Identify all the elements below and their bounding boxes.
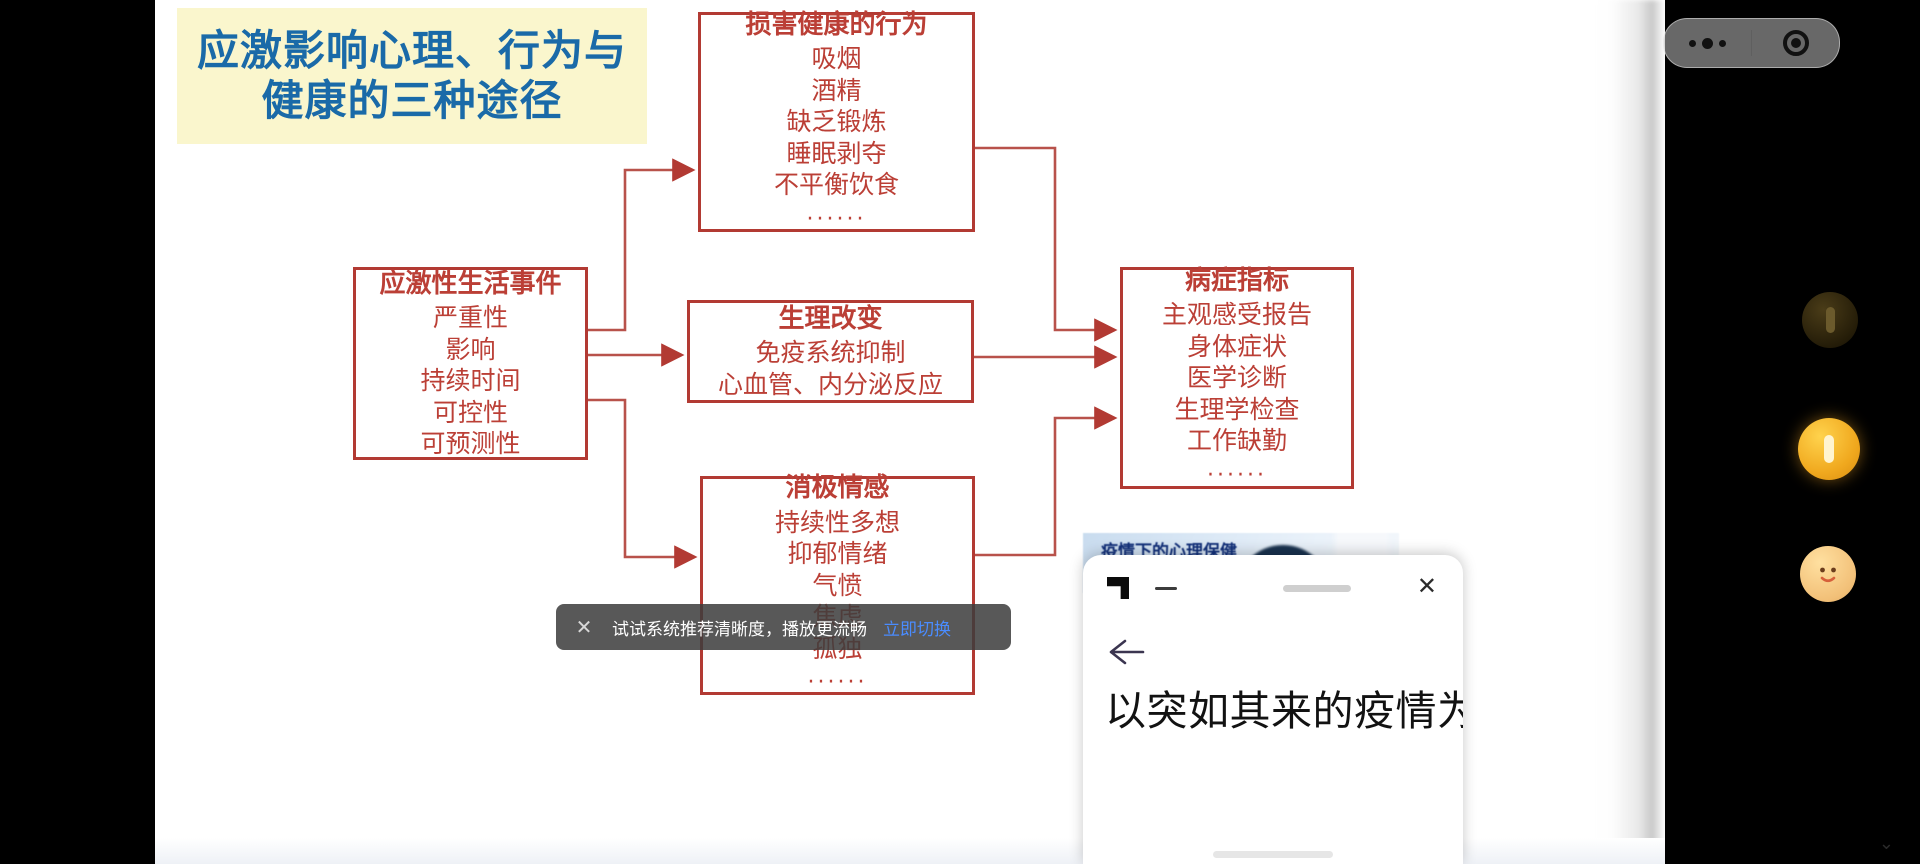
app-logo-icon: [1107, 577, 1129, 599]
node-line: 不平衡饮食: [774, 169, 899, 201]
node-title: 应激性生活事件: [379, 268, 561, 301]
toast-message: 试试系统推荐清晰度，播放更流畅: [612, 615, 867, 640]
node-line: 生理学检查: [1174, 394, 1299, 426]
node-line: 酒精: [811, 75, 861, 107]
node-stressful-life-events: 应激性生活事件 严重性 影响 持续时间 可控性 可预测性: [353, 267, 588, 460]
node-line: 持续时间: [420, 365, 520, 397]
node-line: 主观感受报告: [1162, 299, 1312, 331]
video-stage[interactable]: 应激影响心理、行为与 健康的三种途径: [0, 0, 1920, 864]
node-illness-indicators: 病症指标 主观感受报告 身体症状 医学诊断 生理学检查 工作缺勤 ······: [1120, 267, 1354, 489]
paper-right-edge: [1595, 0, 1665, 864]
emoji-button[interactable]: [1800, 546, 1856, 602]
letterbox-left: [0, 0, 155, 864]
more-menu-button[interactable]: [1664, 38, 1751, 49]
smiley-icon: [1811, 557, 1845, 591]
node-line: 缺乏锻炼: [786, 106, 886, 138]
node-title: 损害健康的行为: [745, 9, 927, 42]
more-icon: [1689, 38, 1726, 49]
node-line: 可预测性: [420, 428, 520, 460]
node-line: 严重性: [433, 302, 508, 334]
node-title: 生理改变: [778, 303, 882, 336]
coin-icon: [1826, 307, 1835, 333]
node-line: 吸烟: [811, 43, 861, 75]
node-line: 免疫系统抑制: [755, 337, 905, 369]
gold-coin-icon: [1824, 435, 1834, 463]
node-ellipsis: ······: [807, 205, 867, 236]
node-title: 病症指标: [1185, 265, 1289, 298]
close-miniprogram-button[interactable]: [1752, 30, 1839, 56]
back-arrow-icon[interactable]: [1105, 635, 1147, 669]
node-health-damaging-behavior: 损害健康的行为 吸烟 酒精 缺乏锻炼 睡眠剥夺 不平衡饮食 ······: [698, 12, 975, 232]
node-line: 持续性多想: [775, 507, 900, 539]
drag-handle[interactable]: [1283, 585, 1351, 592]
home-indicator: [1213, 851, 1333, 858]
floating-window-text: 以突如其来的疫情为引: [1105, 687, 1449, 736]
close-icon[interactable]: ✕: [556, 615, 612, 639]
node-line: 心血管、内分泌反应: [718, 369, 943, 401]
quality-toast[interactable]: ✕ 试试系统推荐清晰度，播放更流畅 立即切换: [556, 604, 1011, 650]
node-line: 医学诊断: [1187, 362, 1287, 394]
floating-window[interactable]: ✕ 以突如其来的疫情为引: [1083, 555, 1463, 864]
chevron-down-icon: ⌄: [1879, 833, 1894, 854]
node-line: 身体症状: [1187, 331, 1287, 363]
node-title: 消极情感: [785, 472, 889, 505]
coin-button-dim[interactable]: [1802, 292, 1858, 348]
node-line: 气愤: [812, 570, 862, 602]
target-circle-icon: [1783, 30, 1809, 56]
close-icon[interactable]: ✕: [1417, 575, 1437, 599]
minimize-icon[interactable]: [1155, 587, 1177, 590]
node-line: 抑郁情绪: [787, 538, 887, 570]
node-line: 睡眠剥夺: [786, 138, 886, 170]
node-line: 工作缺勤: [1187, 425, 1287, 457]
letterbox-right: [1665, 0, 1920, 864]
node-ellipsis: ······: [808, 668, 868, 699]
node-line: 影响: [445, 334, 495, 366]
coin-button-gold[interactable]: [1798, 418, 1860, 480]
miniprogram-capsule[interactable]: [1663, 18, 1840, 68]
node-ellipsis: ······: [1207, 461, 1267, 492]
node-line: 可控性: [433, 397, 508, 429]
node-negative-emotion: 消极情感 持续性多想 抑郁情绪 气愤 焦虑 孤独 ······: [700, 476, 975, 695]
switch-quality-button[interactable]: 立即切换: [883, 615, 951, 640]
node-physiological-change: 生理改变 免疫系统抑制 心血管、内分泌反应: [687, 300, 974, 403]
floating-window-titlebar[interactable]: ✕: [1083, 555, 1463, 617]
